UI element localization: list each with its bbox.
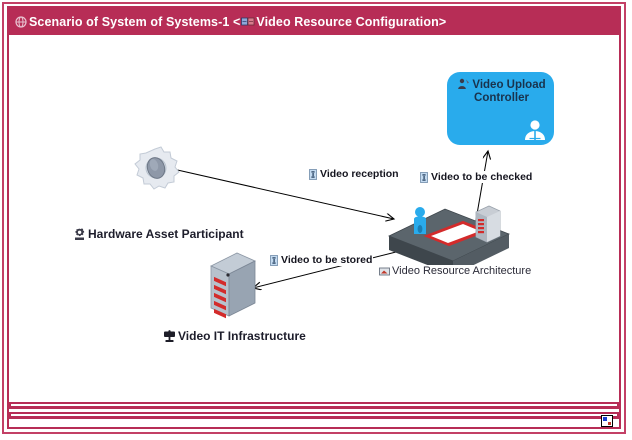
architecture-small-icon [379,266,390,277]
window-title-stereotype: Video Resource Configuration [256,15,438,29]
node-hardware-asset-participant[interactable] [119,143,189,195]
resize-handle[interactable] [601,415,613,427]
edge-label-video-to-be-checked[interactable]: Video to be checked [419,171,533,183]
edge-label-video-to-be-stored[interactable]: Video to be stored [269,254,373,266]
node-video-resource-architecture[interactable] [383,192,515,265]
actor-small-icon [457,78,470,90]
resize-handle-dot-red [608,422,611,425]
information-item-icon [309,169,317,180]
caption-video-resource-architecture: Video Resource Architecture [379,265,531,277]
diagram-window: Scenario of System of Systems-1 < Video … [0,0,632,440]
video-reception-text: Video reception [320,168,399,180]
gear-icon [119,143,189,195]
edge-label-video-reception[interactable]: Video reception [308,168,400,180]
node-video-upload-controller[interactable]: Video Upload Controller [447,72,554,145]
footer-band-top [9,402,619,409]
window-title-prefix: Scenario of System of Systems-1 < [29,15,240,29]
video-upload-controller-label: Video Upload Controller [455,78,548,105]
gear-small-icon [73,228,86,241]
scenario-circle-icon [15,16,27,28]
node-device-icon [163,330,176,343]
footer-band-bottom [9,412,619,419]
caption-hardware-asset-participant: Hardware Asset Participant [73,227,244,241]
video-it-infrastructure-text: Video IT Infrastructure [178,329,306,343]
video-to-be-checked-text: Video to be checked [431,171,532,183]
infrastructure-icon [203,250,265,325]
hardware-asset-participant-text: Hardware Asset Participant [88,227,244,241]
video-resource-architecture-text: Video Resource Architecture [392,265,531,277]
footer-band-bottom-stripe [11,414,617,416]
window-titlebar[interactable]: Scenario of System of Systems-1 < Video … [9,8,619,35]
footer-band-top-stripe [11,404,617,406]
information-item-icon [270,255,278,266]
diagram-canvas[interactable]: Video Upload Controller [11,37,617,395]
architecture-icon [383,192,515,265]
video-to-be-stored-text: Video to be stored [281,254,372,266]
stereotype-icon [241,17,255,27]
video-upload-controller-text: Video Upload Controller [472,79,545,104]
caption-video-it-infrastructure: Video IT Infrastructure [163,329,306,343]
window-title-suffix: > [439,15,446,29]
information-item-icon [420,172,428,183]
user-actor-icon [522,119,548,141]
node-video-it-infrastructure[interactable] [203,250,265,325]
resize-handle-dot-blue [603,417,607,421]
